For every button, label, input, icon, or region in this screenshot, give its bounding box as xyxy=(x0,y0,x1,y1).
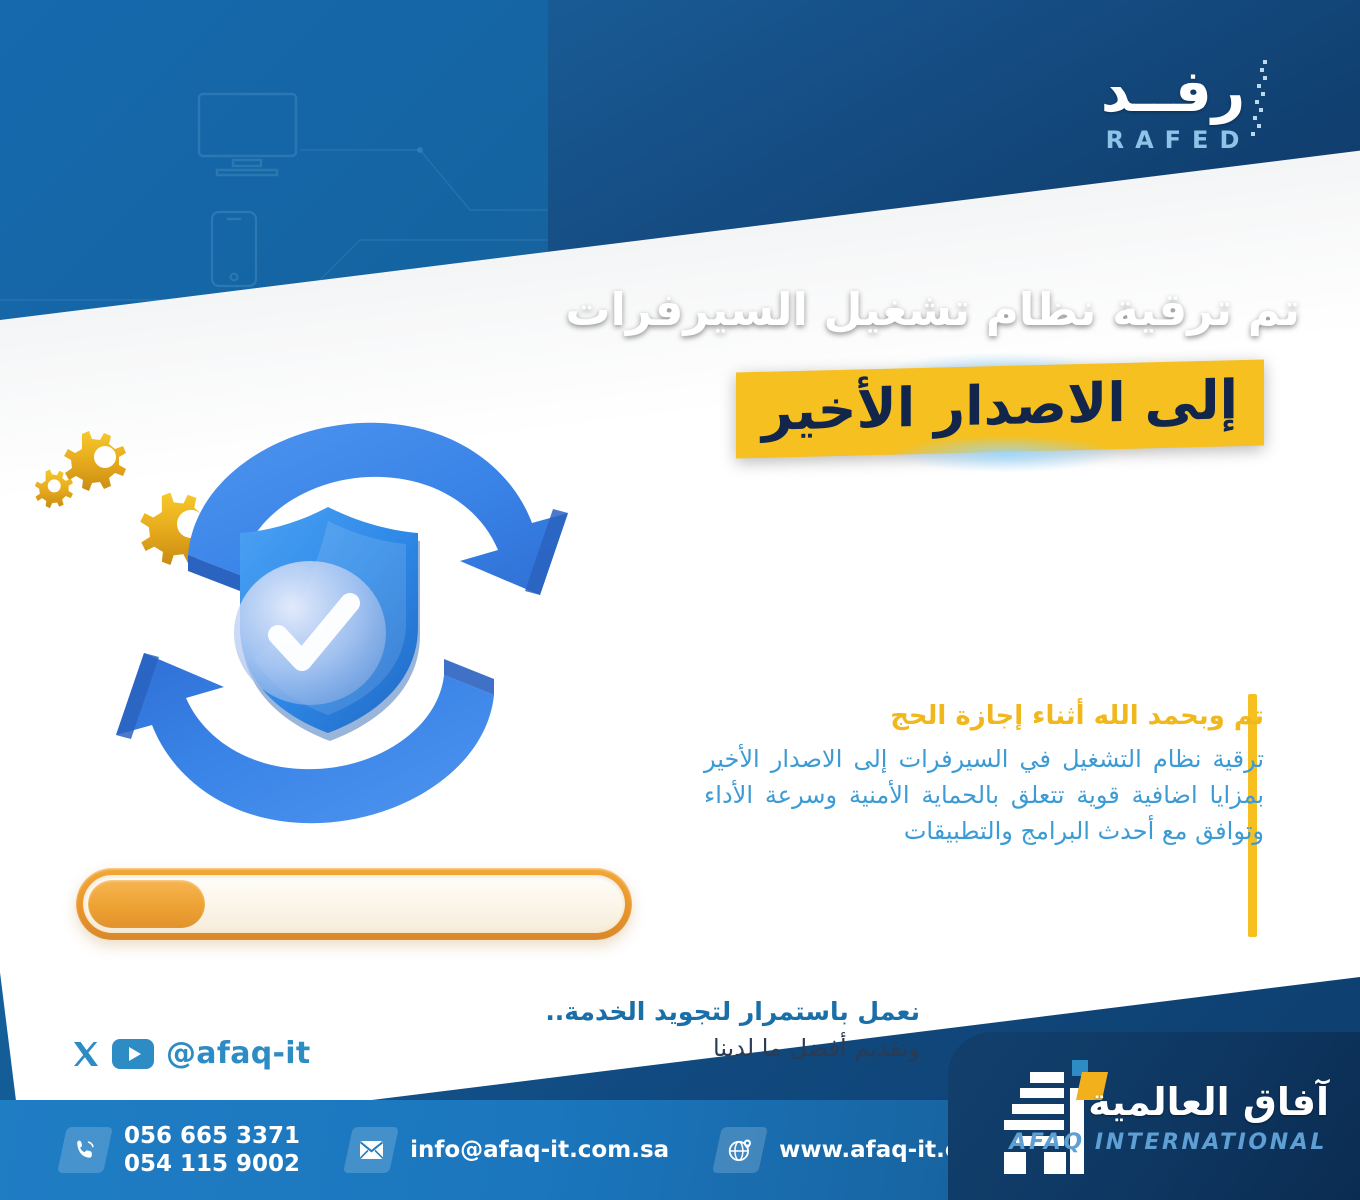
shield-check-icon xyxy=(234,507,420,741)
footer-phone-line2: 054 115 9002 xyxy=(124,1150,300,1178)
body-title: تم وبحمد الله أثناء إجازة الحج xyxy=(704,700,1264,733)
social-row: @afaq-it xyxy=(72,1036,311,1071)
afaq-logo: آفاق العالمية AFAQ INTERNATIONAL xyxy=(990,1058,1335,1178)
progress-bar-inner xyxy=(83,875,625,933)
footer-phone-text: 056 665 3371 054 115 9002 xyxy=(124,1122,300,1178)
rafed-dot-flourish-icon xyxy=(1236,58,1276,154)
progress-bar[interactable] xyxy=(76,868,632,940)
body-text-block: تم وبحمد الله أثناء إجازة الحج ترقية نظا… xyxy=(704,700,1264,849)
gears-icon xyxy=(35,431,216,565)
upgrade-illustration xyxy=(20,395,620,825)
footer-email-item[interactable]: info@afaq-it.com.sa xyxy=(348,1127,669,1173)
footer-phone-item[interactable]: 056 665 3371 054 115 9002 xyxy=(62,1122,300,1178)
smartphone-outline-icon xyxy=(210,210,258,288)
progress-bar-track xyxy=(88,880,620,928)
progress-bar-fill xyxy=(88,880,205,928)
youtube-icon[interactable] xyxy=(112,1039,154,1069)
headline-line1: تم ترقية نظام تشغيل السيرفرات xyxy=(560,284,1300,336)
afaq-logo-arabic: آفاق العالمية xyxy=(1088,1080,1329,1124)
globe-pin-icon xyxy=(712,1127,768,1173)
phone-icon xyxy=(57,1127,113,1173)
social-handle[interactable]: @afaq-it xyxy=(166,1036,311,1071)
footer-contact-items: 056 665 3371 054 115 9002 info@afaq-it.c… xyxy=(0,1100,960,1200)
footer-phone-line1: 056 665 3371 xyxy=(124,1123,300,1149)
afaq-logo-latin: AFAQ INTERNATIONAL xyxy=(1009,1130,1327,1155)
envelope-icon xyxy=(343,1127,399,1173)
tagline-line1: نعمل باستمرار لتجويد الخدمة.. xyxy=(440,996,920,1029)
headline-highlight-wrapper: إلى الاصدار الأخير xyxy=(736,366,1264,452)
tagline-line2: وتقديم أفضل ما لدينا xyxy=(440,1032,920,1064)
headline-highlight: إلى الاصدار الأخير xyxy=(736,360,1264,459)
x-twitter-icon[interactable] xyxy=(72,1040,100,1068)
poster-canvas: رفــد RAFED تم ترقية نظام تشغيل السيرفرا… xyxy=(0,0,1360,1200)
rafed-logo: رفــد RAFED xyxy=(1058,62,1288,182)
monitor-outline-icon xyxy=(195,90,300,180)
tagline-block: نعمل باستمرار لتجويد الخدمة.. وتقديم أفض… xyxy=(440,996,920,1064)
body-paragraph: ترقية نظام التشغيل في السيرفرات إلى الاص… xyxy=(704,741,1264,849)
footer-email-text: info@afaq-it.com.sa xyxy=(410,1136,669,1164)
